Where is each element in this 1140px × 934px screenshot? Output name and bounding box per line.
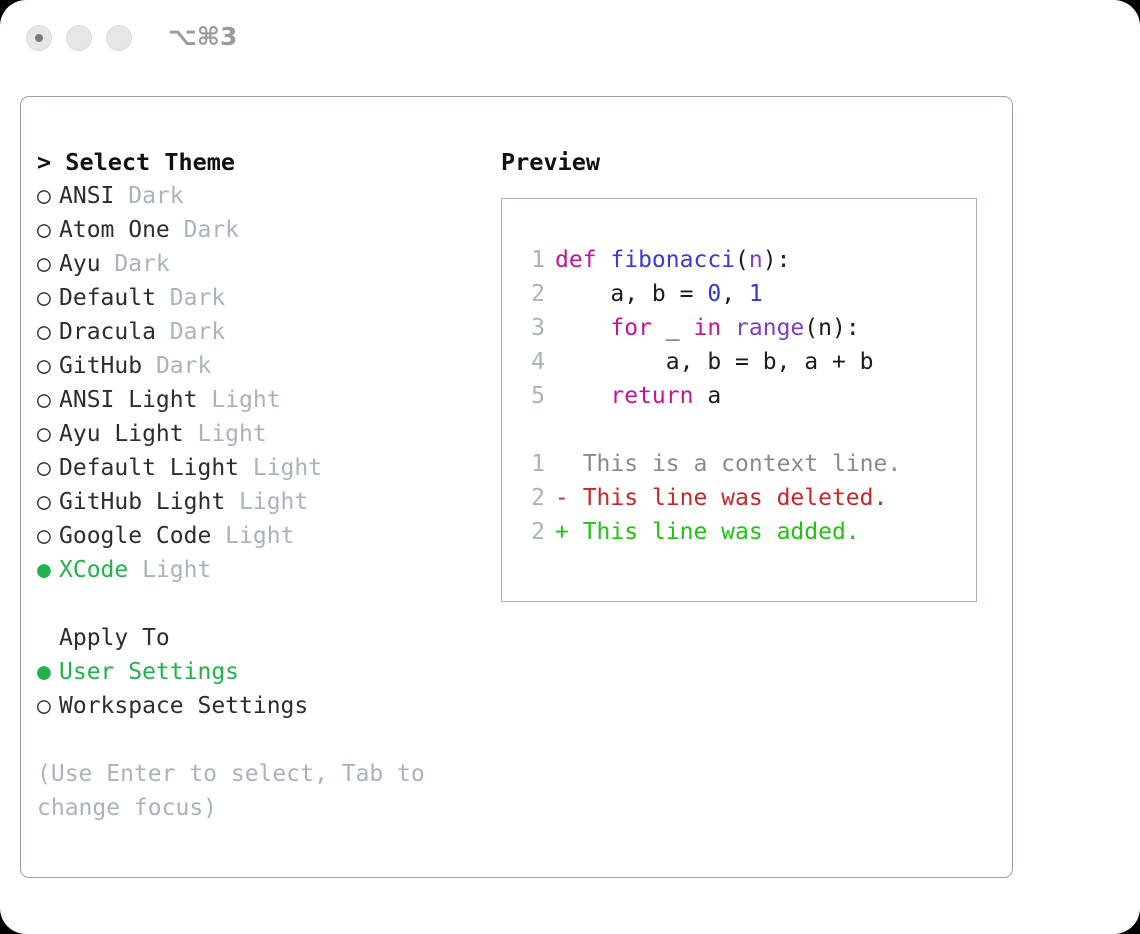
apply-to-option[interactable]: ●User Settings — [37, 655, 497, 689]
code-token: range — [735, 315, 804, 341]
diff-line: 2+ This line was added. — [519, 515, 901, 549]
code-token: a — [693, 383, 721, 409]
app-window: ⌥⌘3 > Select Theme ○ANSI Dark○Atom One D… — [0, 0, 1140, 934]
theme-variant-label: Light — [239, 455, 322, 481]
apply-to-label: Workspace Settings — [59, 693, 308, 719]
theme-name: Ayu — [59, 251, 101, 277]
theme-selector-column: > Select Theme ○ANSI Dark○Atom One Dark○… — [37, 145, 497, 825]
theme-variant-label: Light — [197, 387, 280, 413]
line-number: 4 — [519, 345, 545, 379]
theme-list-item[interactable]: ●XCode Light — [37, 553, 497, 587]
theme-variant-label: Light — [128, 557, 211, 583]
diff-sign: + — [555, 519, 583, 545]
theme-name: Dracula — [59, 319, 156, 345]
diff-line: 2- This line was deleted. — [519, 481, 901, 515]
theme-list-item[interactable]: ○GitHub Light Light — [37, 485, 497, 519]
radio-unselected-icon: ○ — [37, 417, 59, 451]
theme-name: GitHub Light — [59, 489, 225, 515]
theme-variant-label: Dark — [156, 319, 225, 345]
window-dot-3[interactable] — [106, 25, 132, 51]
radio-unselected-icon: ○ — [37, 519, 59, 553]
code-token: for — [610, 315, 652, 341]
radio-unselected-icon: ○ — [37, 315, 59, 349]
theme-name: ANSI — [59, 183, 114, 209]
line-number: 1 — [519, 447, 545, 481]
code-token: a, b = — [555, 281, 707, 307]
main-panel: > Select Theme ○ANSI Dark○Atom One Dark○… — [20, 96, 1013, 878]
radio-unselected-icon: ○ — [37, 349, 59, 383]
diff-sample: 1 This is a context line.2- This line wa… — [519, 447, 901, 549]
code-token: , — [721, 281, 749, 307]
theme-list-item[interactable]: ○Ayu Light Light — [37, 417, 497, 451]
theme-list-item[interactable]: ○Google Code Light — [37, 519, 497, 553]
preview-column: Preview 1def fibonacci(n):2 a, b = 0, 13… — [501, 145, 1001, 602]
theme-variant-label: Dark — [101, 251, 170, 277]
diff-text: This line was deleted. — [583, 485, 888, 511]
diff-text: This line was added. — [583, 519, 860, 545]
theme-name: Ayu Light — [59, 421, 184, 447]
theme-list-item[interactable]: ○ANSI Light Light — [37, 383, 497, 417]
theme-name: XCode — [59, 557, 128, 583]
theme-list: ○ANSI Dark○Atom One Dark○Ayu Dark○Defaul… — [37, 179, 497, 587]
theme-variant-label: Dark — [142, 353, 211, 379]
code-token: 1 — [749, 281, 763, 307]
theme-variant-label: Light — [211, 523, 294, 549]
code-line: 5 return a — [519, 379, 874, 413]
theme-name: ANSI Light — [59, 387, 197, 413]
code-token: a, b = b, a + b — [555, 349, 874, 375]
theme-name: Atom One — [59, 217, 170, 243]
theme-list-item[interactable]: ○Atom One Dark — [37, 213, 497, 247]
code-token: def — [555, 247, 610, 273]
theme-list-item[interactable]: ○Ayu Dark — [37, 247, 497, 281]
code-token: fibonacci — [610, 247, 735, 273]
radio-unselected-icon: ○ — [37, 247, 59, 281]
theme-variant-label: Dark — [114, 183, 183, 209]
preview-header: Preview — [501, 145, 1001, 179]
code-sample: 1def fibonacci(n):2 a, b = 0, 13 for _ i… — [519, 243, 874, 413]
radio-unselected-icon: ○ — [37, 213, 59, 247]
diff-sign — [555, 451, 583, 477]
section-spacer — [37, 587, 497, 621]
theme-variant-label: Dark — [170, 217, 239, 243]
keyboard-shortcut-label: ⌥⌘3 — [168, 22, 237, 51]
radio-unselected-icon: ○ — [37, 689, 59, 723]
code-line: 4 a, b = b, a + b — [519, 345, 874, 379]
theme-list-item[interactable]: ○Default Light Light — [37, 451, 497, 485]
apply-to-header: Apply To — [37, 621, 497, 655]
radio-unselected-icon: ○ — [37, 383, 59, 417]
theme-name: Google Code — [59, 523, 211, 549]
theme-variant-label: Light — [184, 421, 267, 447]
radio-selected-icon: ● — [37, 553, 59, 587]
theme-list-item[interactable]: ○Dracula Dark — [37, 315, 497, 349]
radio-unselected-icon: ○ — [37, 179, 59, 213]
window-dot-active[interactable] — [26, 25, 52, 51]
theme-variant-label: Light — [225, 489, 308, 515]
radio-unselected-icon: ○ — [37, 485, 59, 519]
code-token: _ — [652, 315, 694, 341]
apply-to-list: ●User Settings○Workspace Settings — [37, 655, 497, 723]
apply-to-option[interactable]: ○Workspace Settings — [37, 689, 497, 723]
line-number: 2 — [519, 277, 545, 311]
code-line: 3 for _ in range(n): — [519, 311, 874, 345]
line-number: 2 — [519, 515, 545, 549]
code-token — [721, 315, 735, 341]
code-token: (n): — [804, 315, 859, 341]
radio-unselected-icon: ○ — [37, 281, 59, 315]
window-dot-2[interactable] — [66, 25, 92, 51]
theme-list-item[interactable]: ○Default Dark — [37, 281, 497, 315]
radio-selected-icon: ● — [37, 655, 59, 689]
keyboard-hint-text: (Use Enter to select, Tab to change focu… — [37, 757, 437, 825]
code-token: in — [693, 315, 721, 341]
line-number: 1 — [519, 243, 545, 277]
code-token: ): — [763, 247, 791, 273]
theme-list-item[interactable]: ○GitHub Dark — [37, 349, 497, 383]
diff-sign: - — [555, 485, 583, 511]
code-line: 1def fibonacci(n): — [519, 243, 874, 277]
code-token — [555, 315, 610, 341]
radio-unselected-icon: ○ — [37, 451, 59, 485]
line-number: 3 — [519, 311, 545, 345]
theme-name: GitHub — [59, 353, 142, 379]
select-theme-header: > Select Theme — [37, 145, 497, 179]
code-token: return — [610, 383, 693, 409]
diff-line: 1 This is a context line. — [519, 447, 901, 481]
theme-list-item[interactable]: ○ANSI Dark — [37, 179, 497, 213]
preview-box: 1def fibonacci(n):2 a, b = 0, 13 for _ i… — [501, 198, 977, 602]
theme-variant-label: Dark — [156, 285, 225, 311]
theme-name: Default — [59, 285, 156, 311]
code-token: 0 — [707, 281, 721, 307]
apply-to-label: User Settings — [59, 659, 239, 685]
line-number: 5 — [519, 379, 545, 413]
code-token: n — [749, 247, 763, 273]
code-line: 2 a, b = 0, 1 — [519, 277, 874, 311]
title-bar: ⌥⌘3 — [0, 0, 1140, 78]
line-number: 2 — [519, 481, 545, 515]
theme-name: Default Light — [59, 455, 239, 481]
code-token: ( — [735, 247, 749, 273]
code-token — [555, 383, 610, 409]
diff-text: This is a context line. — [583, 451, 902, 477]
